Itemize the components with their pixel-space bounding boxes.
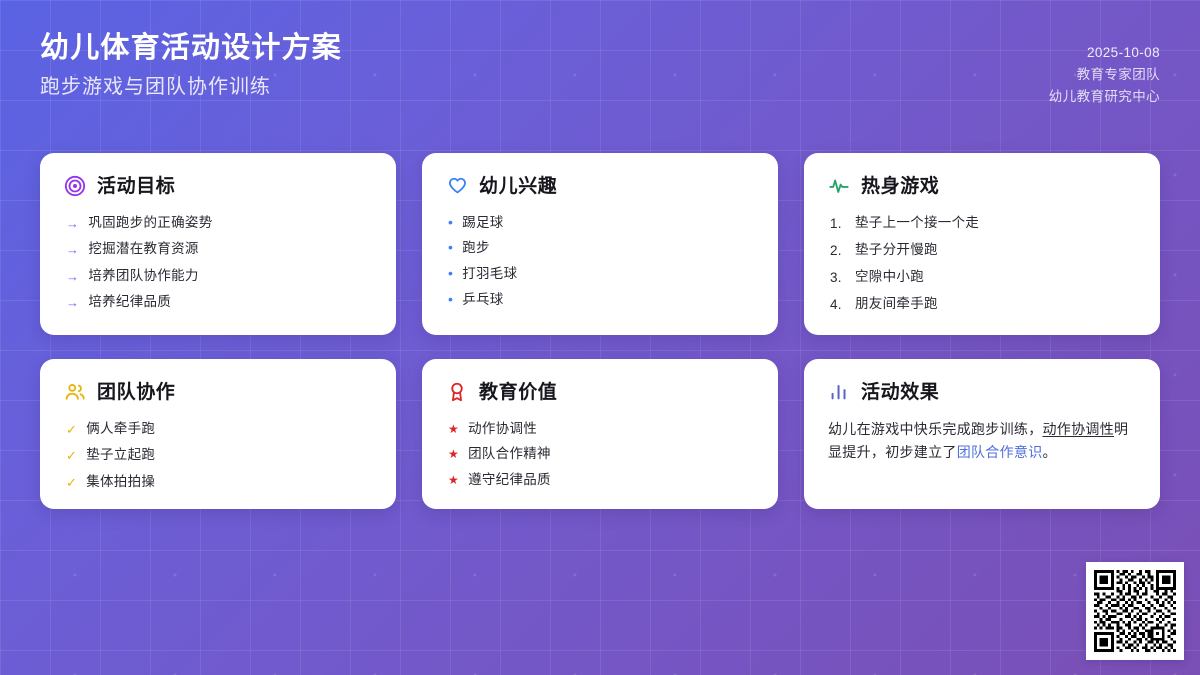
card-activity-goals: 活动目标 →巩固跑步的正确姿势 →挖掘潜在教育资源 →培养团队协作能力 →培养纪… bbox=[40, 153, 396, 335]
list-number: 2. bbox=[830, 242, 846, 260]
list-item-label: 团队合作精神 bbox=[468, 446, 754, 463]
list-item: 4.朋友间牵手跑 bbox=[828, 292, 1136, 319]
list-item-label: 俩人牵手跑 bbox=[86, 421, 372, 438]
list-item-label: 乒乓球 bbox=[462, 292, 754, 309]
check-bullet-icon: ✓ bbox=[66, 421, 77, 439]
arrow-bullet-icon: → bbox=[66, 268, 79, 286]
arrow-bullet-icon: → bbox=[66, 294, 79, 312]
outcome-emphasis: 动作协调性 bbox=[1043, 421, 1115, 437]
users-icon bbox=[64, 381, 86, 403]
list-item-label: 空隙中小跑 bbox=[855, 269, 1136, 286]
list-item: 1.垫子上一个接一个走 bbox=[828, 210, 1136, 237]
page-subtitle: 跑步游戏与团队协作训练 bbox=[40, 74, 342, 100]
list-item-label: 垫子立起跑 bbox=[86, 447, 372, 464]
dot-bullet-icon: • bbox=[448, 215, 453, 230]
dot-bullet-icon: • bbox=[448, 240, 453, 255]
card-title: 幼儿兴趣 bbox=[479, 177, 557, 196]
outcome-accent: 团队合作意识 bbox=[957, 444, 1043, 460]
list-item-label: 跑步 bbox=[462, 240, 754, 257]
list-item: •打羽毛球 bbox=[446, 262, 754, 288]
list-item: →巩固跑步的正确姿势 bbox=[64, 210, 372, 237]
card-title: 热身游戏 bbox=[861, 177, 939, 196]
star-bullet-icon: ★ bbox=[448, 446, 459, 462]
slide-root: 幼儿体育活动设计方案 跑步游戏与团队协作训练 2025-10-08 教育专家团队… bbox=[0, 0, 1200, 675]
list-item-label: 踢足球 bbox=[462, 215, 754, 232]
bar-chart-icon bbox=[828, 381, 850, 403]
outcome-text-part3: 。 bbox=[1043, 444, 1057, 460]
list-item-label: 垫子分开慢跑 bbox=[855, 242, 1136, 259]
dot-bullet-icon: • bbox=[448, 266, 453, 281]
card-title: 活动效果 bbox=[861, 383, 939, 402]
list-item: →挖掘潜在教育资源 bbox=[64, 237, 372, 264]
arrow-bullet-icon: → bbox=[66, 215, 79, 233]
list-item-label: 打羽毛球 bbox=[462, 266, 754, 283]
list-item: 2.垫子分开慢跑 bbox=[828, 237, 1136, 264]
card-header: 幼儿兴趣 bbox=[446, 175, 754, 197]
list-item-label: 巩固跑步的正确姿势 bbox=[88, 215, 372, 232]
list-item-label: 培养纪律品质 bbox=[88, 294, 372, 311]
list-number: 4. bbox=[830, 296, 846, 314]
list-item: →培养团队协作能力 bbox=[64, 263, 372, 290]
card-child-interests: 幼儿兴趣 •踢足球 •跑步 •打羽毛球 •乒乓球 bbox=[422, 153, 778, 335]
card-educational-value: 教育价值 ★动作协调性 ★团队合作精神 ★遵守纪律品质 bbox=[422, 359, 778, 509]
header-meta: 2025-10-08 教育专家团队 幼儿教育研究中心 bbox=[1049, 30, 1160, 108]
activity-icon bbox=[828, 175, 850, 197]
list-item: •踢足球 bbox=[446, 210, 754, 236]
card-header: 热身游戏 bbox=[828, 175, 1136, 197]
target-icon bbox=[64, 175, 86, 197]
list-item-label: 动作协调性 bbox=[468, 421, 754, 438]
card-header: 团队协作 bbox=[64, 381, 372, 403]
list-item: ★遵守纪律品质 bbox=[446, 468, 754, 494]
list-item: •乒乓球 bbox=[446, 288, 754, 314]
outcome-text-part1: 幼儿在游戏中快乐完成跑步训练， bbox=[828, 421, 1043, 437]
card-title: 教育价值 bbox=[479, 383, 557, 402]
card-list: •踢足球 •跑步 •打羽毛球 •乒乓球 bbox=[446, 210, 754, 314]
check-bullet-icon: ✓ bbox=[66, 447, 77, 465]
card-title: 活动目标 bbox=[97, 177, 175, 196]
list-item: ★团队合作精神 bbox=[446, 442, 754, 468]
star-bullet-icon: ★ bbox=[448, 472, 459, 488]
list-item: →培养纪律品质 bbox=[64, 290, 372, 317]
list-item-label: 培养团队协作能力 bbox=[88, 268, 372, 285]
cards-grid: 活动目标 →巩固跑步的正确姿势 →挖掘潜在教育资源 →培养团队协作能力 →培养纪… bbox=[40, 153, 1160, 509]
card-header: 活动目标 bbox=[64, 175, 372, 197]
header-titles: 幼儿体育活动设计方案 跑步游戏与团队协作训练 bbox=[40, 30, 342, 100]
card-list: ★动作协调性 ★团队合作精神 ★遵守纪律品质 bbox=[446, 416, 754, 494]
list-item-label: 遵守纪律品质 bbox=[468, 472, 754, 489]
list-item: ✓垫子立起跑 bbox=[64, 443, 372, 470]
card-warmup-games: 热身游戏 1.垫子上一个接一个走 2.垫子分开慢跑 3.空隙中小跑 4.朋友间牵… bbox=[804, 153, 1160, 335]
list-item: •跑步 bbox=[446, 236, 754, 262]
list-number: 1. bbox=[830, 215, 846, 233]
arrow-bullet-icon: → bbox=[66, 241, 79, 259]
list-item-label: 朋友间牵手跑 bbox=[855, 296, 1136, 313]
list-item: 3.空隙中小跑 bbox=[828, 264, 1136, 291]
card-list: →巩固跑步的正确姿势 →挖掘潜在教育资源 →培养团队协作能力 →培养纪律品质 bbox=[64, 210, 372, 316]
list-item-label: 挖掘潜在教育资源 bbox=[88, 241, 372, 258]
card-list: ✓俩人牵手跑 ✓垫子立起跑 ✓集体拍拍操 bbox=[64, 416, 372, 496]
list-item-label: 垫子上一个接一个走 bbox=[855, 215, 1136, 232]
qr-code-container[interactable] bbox=[1086, 562, 1184, 660]
card-team-collaboration: 团队协作 ✓俩人牵手跑 ✓垫子立起跑 ✓集体拍拍操 bbox=[40, 359, 396, 509]
dot-bullet-icon: • bbox=[448, 292, 453, 307]
list-number: 3. bbox=[830, 269, 846, 287]
meta-date: 2025-10-08 bbox=[1049, 42, 1160, 64]
list-item: ✓集体拍拍操 bbox=[64, 469, 372, 496]
slide-header: 幼儿体育活动设计方案 跑步游戏与团队协作训练 2025-10-08 教育专家团队… bbox=[0, 0, 1200, 132]
outcome-paragraph: 幼儿在游戏中快乐完成跑步训练，动作协调性明显提升，初步建立了团队合作意识。 bbox=[828, 416, 1136, 463]
list-item: ✓俩人牵手跑 bbox=[64, 416, 372, 443]
list-item-label: 集体拍拍操 bbox=[86, 474, 372, 491]
award-icon bbox=[446, 381, 468, 403]
heart-icon bbox=[446, 175, 468, 197]
card-activity-outcome: 活动效果 幼儿在游戏中快乐完成跑步训练，动作协调性明显提升，初步建立了团队合作意… bbox=[804, 359, 1160, 509]
page-title: 幼儿体育活动设计方案 bbox=[40, 30, 342, 66]
star-bullet-icon: ★ bbox=[448, 421, 459, 437]
card-header: 活动效果 bbox=[828, 381, 1136, 403]
check-bullet-icon: ✓ bbox=[66, 474, 77, 492]
meta-team: 教育专家团队 bbox=[1049, 64, 1160, 86]
meta-org: 幼儿教育研究中心 bbox=[1049, 86, 1160, 108]
card-title: 团队协作 bbox=[97, 383, 175, 402]
list-item: ★动作协调性 bbox=[446, 416, 754, 442]
card-list: 1.垫子上一个接一个走 2.垫子分开慢跑 3.空隙中小跑 4.朋友间牵手跑 bbox=[828, 210, 1136, 319]
card-header: 教育价值 bbox=[446, 381, 754, 403]
qr-code bbox=[1094, 570, 1176, 652]
